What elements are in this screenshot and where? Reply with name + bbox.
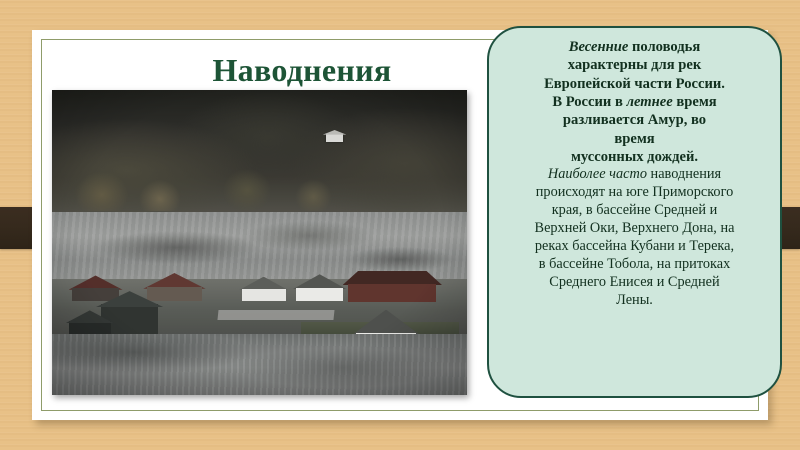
paragraph-most-frequent: Наиболее часто наводнения происходят на …	[501, 166, 768, 310]
text-line-2: характерны для рек	[568, 57, 702, 73]
text-line-13: в бассейне Тобола, на притоках	[539, 256, 731, 272]
photo-vignette	[52, 90, 467, 395]
description-text: Весенние половодья характерны для рек Ев…	[501, 38, 768, 310]
text-line-4b: летнее	[627, 94, 673, 110]
text-line-3: Европейской части России.	[544, 76, 725, 92]
text-line-15: Лены.	[616, 292, 653, 308]
text-line-11: Верхней Оки, Верхнего Дона, на	[535, 220, 735, 236]
text-line-9: происходят на юге Приморского	[536, 184, 733, 200]
text-line-10: края, в бассейне Средней и	[552, 202, 718, 218]
text-line-12: реках бассейна Кубани и Терека,	[535, 238, 734, 254]
text-line-6: время	[614, 131, 654, 147]
flood-photo-image	[52, 90, 467, 395]
flood-photo	[52, 90, 467, 395]
paragraph-spring-floods: Весенние половодья характерны для рек Ев…	[501, 38, 768, 166]
text-line-7: муссонных дождей.	[571, 149, 698, 165]
text-line-4a: В России в	[552, 94, 626, 110]
text-line-8a: Наиболее часто	[548, 166, 647, 182]
text-line-14: Среднего Енисея и Средней	[549, 274, 719, 290]
text-line-1a: Весенние	[569, 39, 629, 55]
text-line-8b: наводнения	[647, 166, 721, 182]
description-panel: Весенние половодья характерны для рек Ев…	[487, 26, 782, 398]
text-line-4c: время	[673, 94, 717, 110]
text-line-1b: половодья	[628, 39, 700, 55]
text-line-5: разливается Амур, во	[563, 112, 706, 128]
page-title: Наводнения	[92, 54, 512, 88]
